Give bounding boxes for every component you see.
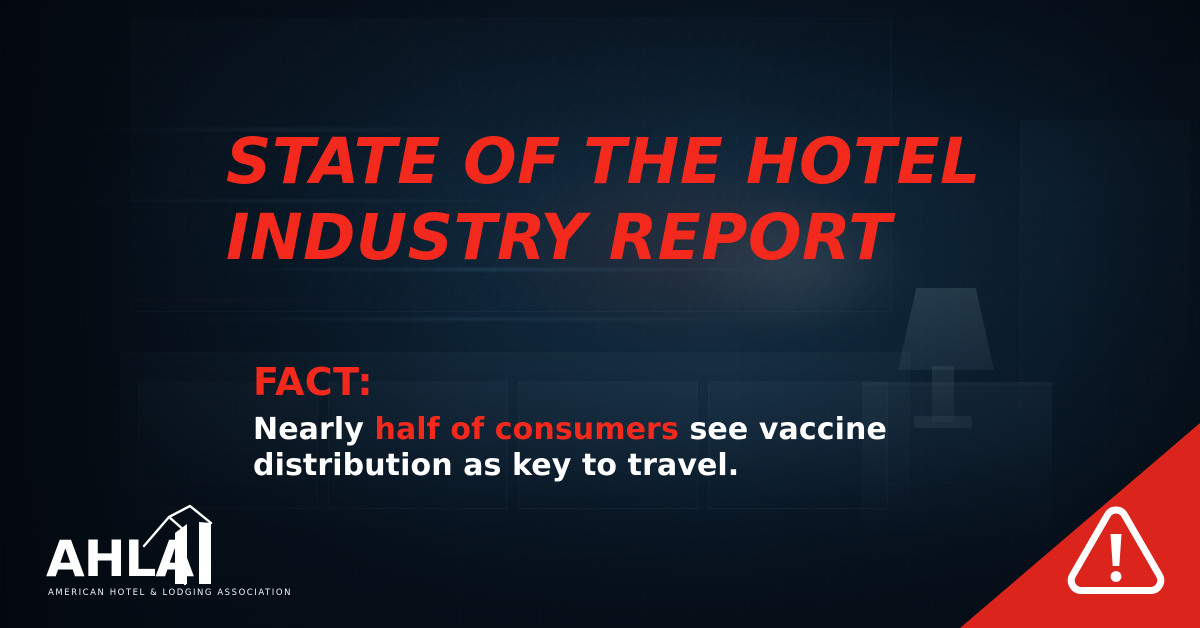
headline-line-2: INDUSTRY REPORT [226, 200, 1026, 276]
poster-canvas: STATE OF THE HOTEL INDUSTRY REPORT FACT:… [0, 0, 1200, 628]
fact-text-highlight: half of consumers [374, 412, 678, 447]
warning-triangle-icon [1060, 498, 1172, 602]
ahla-tagline: AMERICAN HOTEL & LODGING ASSOCIATION [48, 588, 292, 598]
fact-text-lead: Nearly [253, 412, 374, 447]
headline-line-1: STATE OF THE HOTEL [226, 124, 1026, 200]
poster-headline: STATE OF THE HOTEL INDUSTRY REPORT [226, 124, 1026, 276]
fact-block: FACT: Nearly half of consumers see vacci… [253, 360, 953, 484]
fact-label: FACT: [253, 360, 953, 404]
ahla-wordmark: AHLA [46, 534, 193, 584]
ahla-logo: AHLA AMERICAN HOTEL & LODGING ASSOCIATIO… [44, 500, 244, 590]
fact-body: Nearly half of consumers see vaccine dis… [253, 412, 953, 484]
